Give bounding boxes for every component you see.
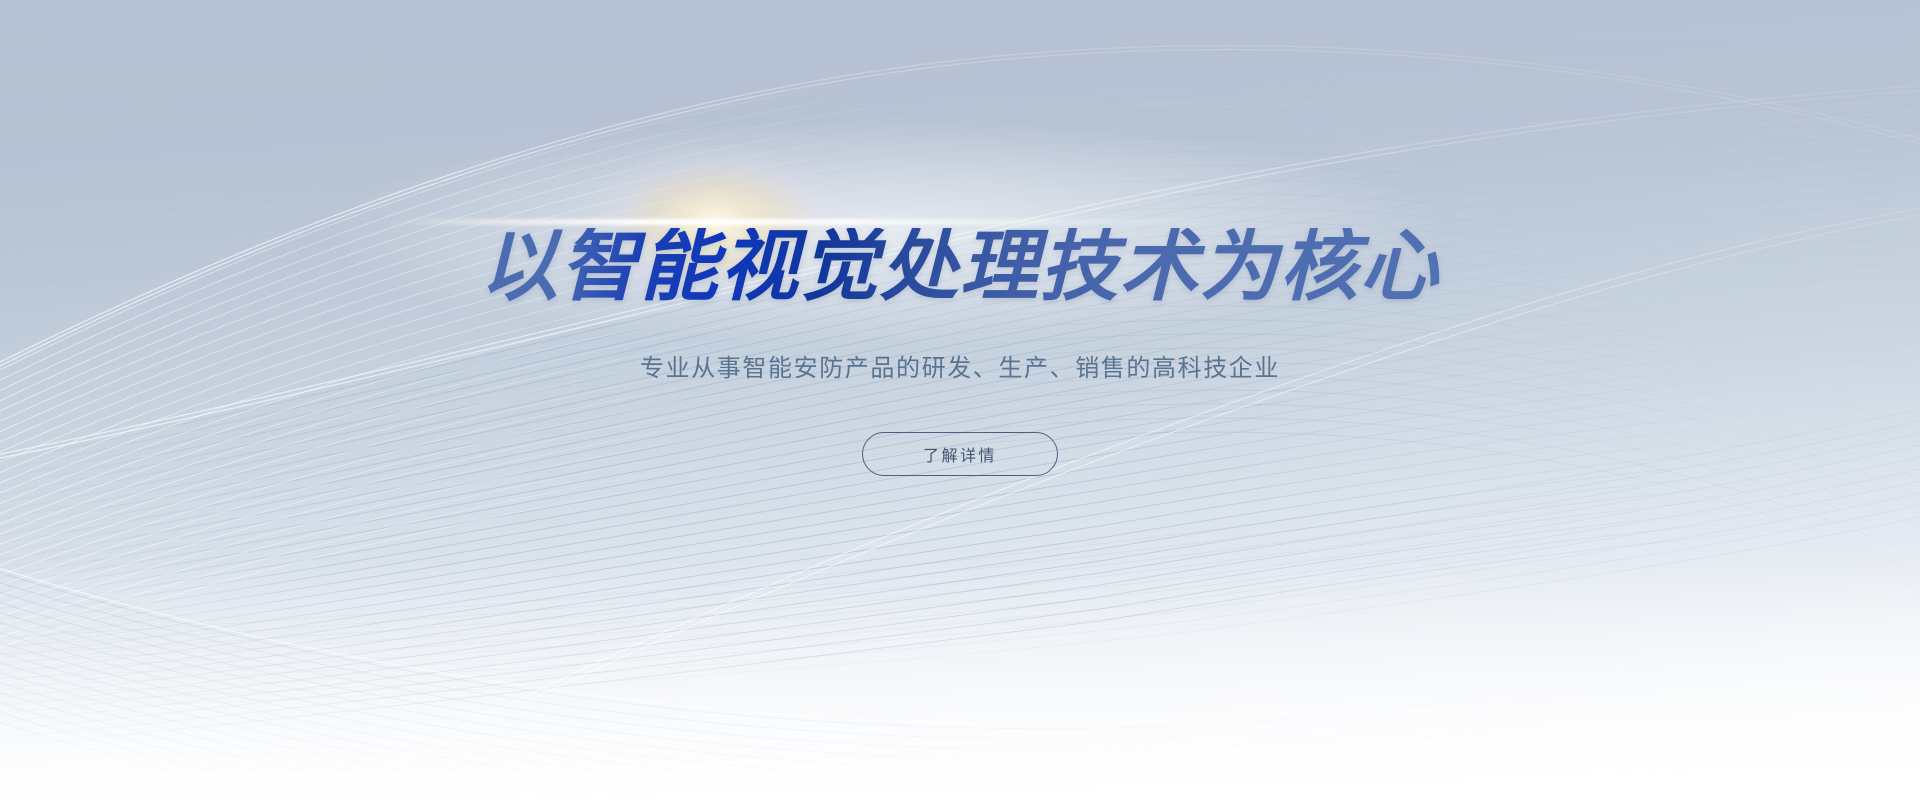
background-wave-art bbox=[0, 0, 1920, 800]
learn-more-button[interactable]: 了解详情 bbox=[862, 432, 1058, 476]
hero-subtitle: 专业从事智能安防产品的研发、生产、销售的高科技企业 bbox=[640, 352, 1280, 386]
page-title: 以智能视觉处理技术为核心 bbox=[480, 228, 1440, 306]
hero-banner: 以智能视觉处理技术为核心 专业从事智能安防产品的研发、生产、销售的高科技企业 了… bbox=[0, 0, 1920, 800]
